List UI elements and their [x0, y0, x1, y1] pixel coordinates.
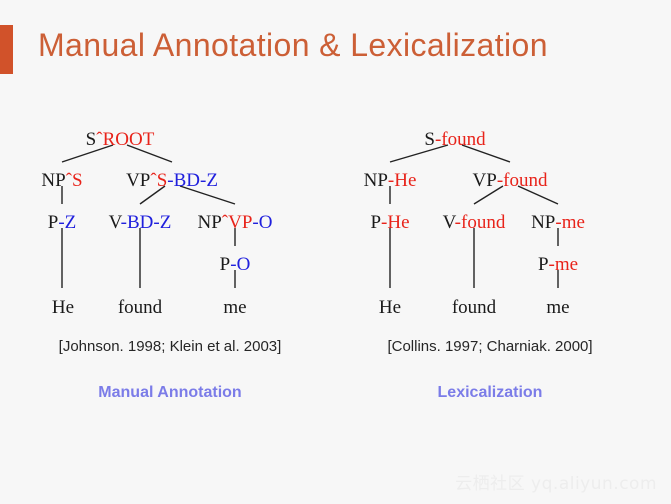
- node-label-part: NP: [531, 212, 555, 233]
- tree-node: V-BD-Z: [109, 213, 172, 232]
- tree-node: SˆROOT: [86, 130, 155, 149]
- node-label-part: P: [538, 254, 549, 275]
- tree-node: P-Z: [48, 213, 77, 232]
- citation-lexicalization: [Collins. 1997; Charniak. 2000]: [330, 338, 650, 355]
- node-label-part: ˆROOT: [96, 129, 154, 150]
- tree-node: P-O: [220, 255, 251, 274]
- tree-node: NP-He: [364, 171, 417, 190]
- tree-node: VP-found: [473, 171, 548, 190]
- node-label-part: P: [370, 212, 381, 233]
- watermark: 云栖社区 yq.aliyun.com: [455, 469, 657, 494]
- node-label-part: -BD-Z: [167, 170, 218, 191]
- title-accent-bar: [0, 25, 13, 74]
- node-label-part: -O: [252, 212, 272, 233]
- node-label-part: -found: [455, 212, 506, 233]
- tree-leaf: me: [223, 298, 246, 317]
- node-label-part: NP: [198, 212, 222, 233]
- node-label-part: me: [546, 297, 569, 318]
- node-label-part: -Z: [58, 212, 76, 233]
- tree-node: P-He: [370, 213, 409, 232]
- tree-leaf: He: [52, 298, 74, 317]
- tree-node: S-found: [424, 130, 485, 149]
- tree-node: V-found: [443, 213, 506, 232]
- node-label-part: He: [379, 297, 401, 318]
- manual-annotation-panel: SˆROOTNPˆSVPˆS-BD-ZP-ZV-BD-ZNPˆVP-OP-OHe…: [10, 118, 330, 428]
- node-label-part: -O: [230, 254, 250, 275]
- tree-leaf: me: [546, 298, 569, 317]
- node-label-part: me: [223, 297, 246, 318]
- node-label-part: VP: [126, 170, 150, 191]
- tree-node: NP-me: [531, 213, 585, 232]
- node-label-part: found: [452, 297, 496, 318]
- node-label-part: -He: [388, 170, 416, 191]
- node-label-part: found: [118, 297, 162, 318]
- node-label-part: -me: [549, 254, 579, 275]
- node-label-part: P: [48, 212, 59, 233]
- page-title: Manual Annotation & Lexicalization: [38, 27, 548, 64]
- node-label-part: ˆS: [150, 170, 167, 191]
- node-label-part: S: [424, 129, 435, 150]
- tree-leaf: found: [452, 298, 496, 317]
- node-label-part: NP: [364, 170, 388, 191]
- node-label-part: -me: [555, 212, 585, 233]
- lexicalization-panel: S-foundNP-HeVP-foundP-HeV-foundNP-meP-me…: [330, 118, 650, 428]
- node-label-part: P: [220, 254, 231, 275]
- node-label-part: S: [86, 129, 97, 150]
- node-label-part: -found: [435, 129, 486, 150]
- node-label-part: He: [52, 297, 74, 318]
- node-label-part: NP: [41, 170, 65, 191]
- tree-node: VPˆS-BD-Z: [126, 171, 218, 190]
- tree-node: NPˆS: [41, 171, 82, 190]
- tree-node: P-me: [538, 255, 578, 274]
- citation-manual-annotation: [Johnson. 1998; Klein et al. 2003]: [10, 338, 330, 355]
- caption-manual-annotation: Manual Annotation: [10, 384, 330, 402]
- parse-tree-lexicalization: S-foundNP-HeVP-foundP-HeV-foundNP-meP-me…: [330, 118, 650, 328]
- node-label-part: -He: [381, 212, 409, 233]
- tree-node: NPˆVP-O: [198, 213, 273, 232]
- node-label-part: -found: [497, 170, 548, 191]
- node-label-part: VP: [473, 170, 497, 191]
- node-label-part: V: [109, 212, 121, 233]
- node-label-part: ˆVP: [222, 212, 253, 233]
- tree-leaf: found: [118, 298, 162, 317]
- node-label-part: -BD-Z: [121, 212, 172, 233]
- parse-tree-manual-annotation: SˆROOTNPˆSVPˆS-BD-ZP-ZV-BD-ZNPˆVP-OP-OHe…: [10, 118, 330, 328]
- node-label-part: ˆS: [66, 170, 83, 191]
- caption-lexicalization: Lexicalization: [330, 384, 650, 402]
- tree-leaf: He: [379, 298, 401, 317]
- node-label-part: V: [443, 212, 455, 233]
